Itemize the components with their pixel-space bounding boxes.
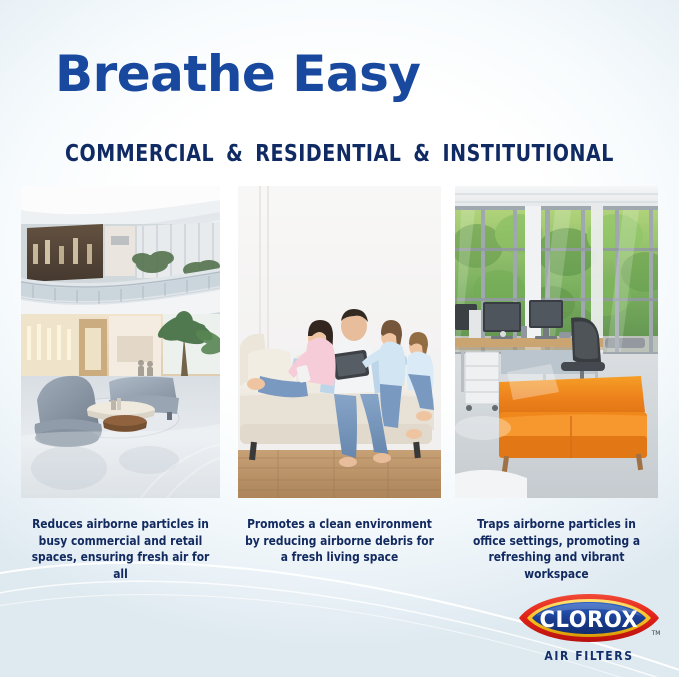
segment-institutional: INSTITUTIONAL — [443, 141, 614, 167]
photo-office-workspace — [455, 186, 658, 498]
photo-family-living-room — [238, 186, 441, 498]
feature-panel-commercial: Reduces airborne particles in busy comme… — [21, 186, 220, 582]
feature-panel-residential: Promotes a clean environment by reducing… — [238, 186, 441, 566]
segment-subtitle: COMMERCIAL&RESIDENTIAL&INSTITUTIONAL — [27, 140, 652, 168]
segment-separator-1: & — [214, 141, 255, 167]
clorox-logo-icon: CLOROX TM — [515, 592, 663, 644]
photo-commercial-mall — [21, 186, 220, 498]
segment-residential: RESIDENTIAL — [255, 141, 401, 167]
product-banner: Breathe Easy COMMERCIAL&RESIDENTIAL&INST… — [0, 0, 679, 677]
trademark-symbol: TM — [651, 630, 661, 637]
segment-separator-2: & — [401, 141, 442, 167]
product-line-label: AIR FILTERS — [515, 649, 663, 663]
brand-logo-block: CLOROX TM AIR FILTERS — [515, 592, 663, 663]
page-title: Breathe Easy — [55, 45, 420, 103]
segment-commercial: COMMERCIAL — [65, 141, 214, 167]
panel-caption: Promotes a clean environment by reducing… — [243, 516, 436, 566]
panel-caption: Reduces airborne particles in busy comme… — [26, 516, 215, 582]
panel-caption: Traps airborne particles in office setti… — [460, 516, 653, 582]
feature-panel-institutional: Traps airborne particles in office setti… — [455, 186, 658, 582]
svg-text:CLOROX: CLOROX — [540, 608, 639, 634]
